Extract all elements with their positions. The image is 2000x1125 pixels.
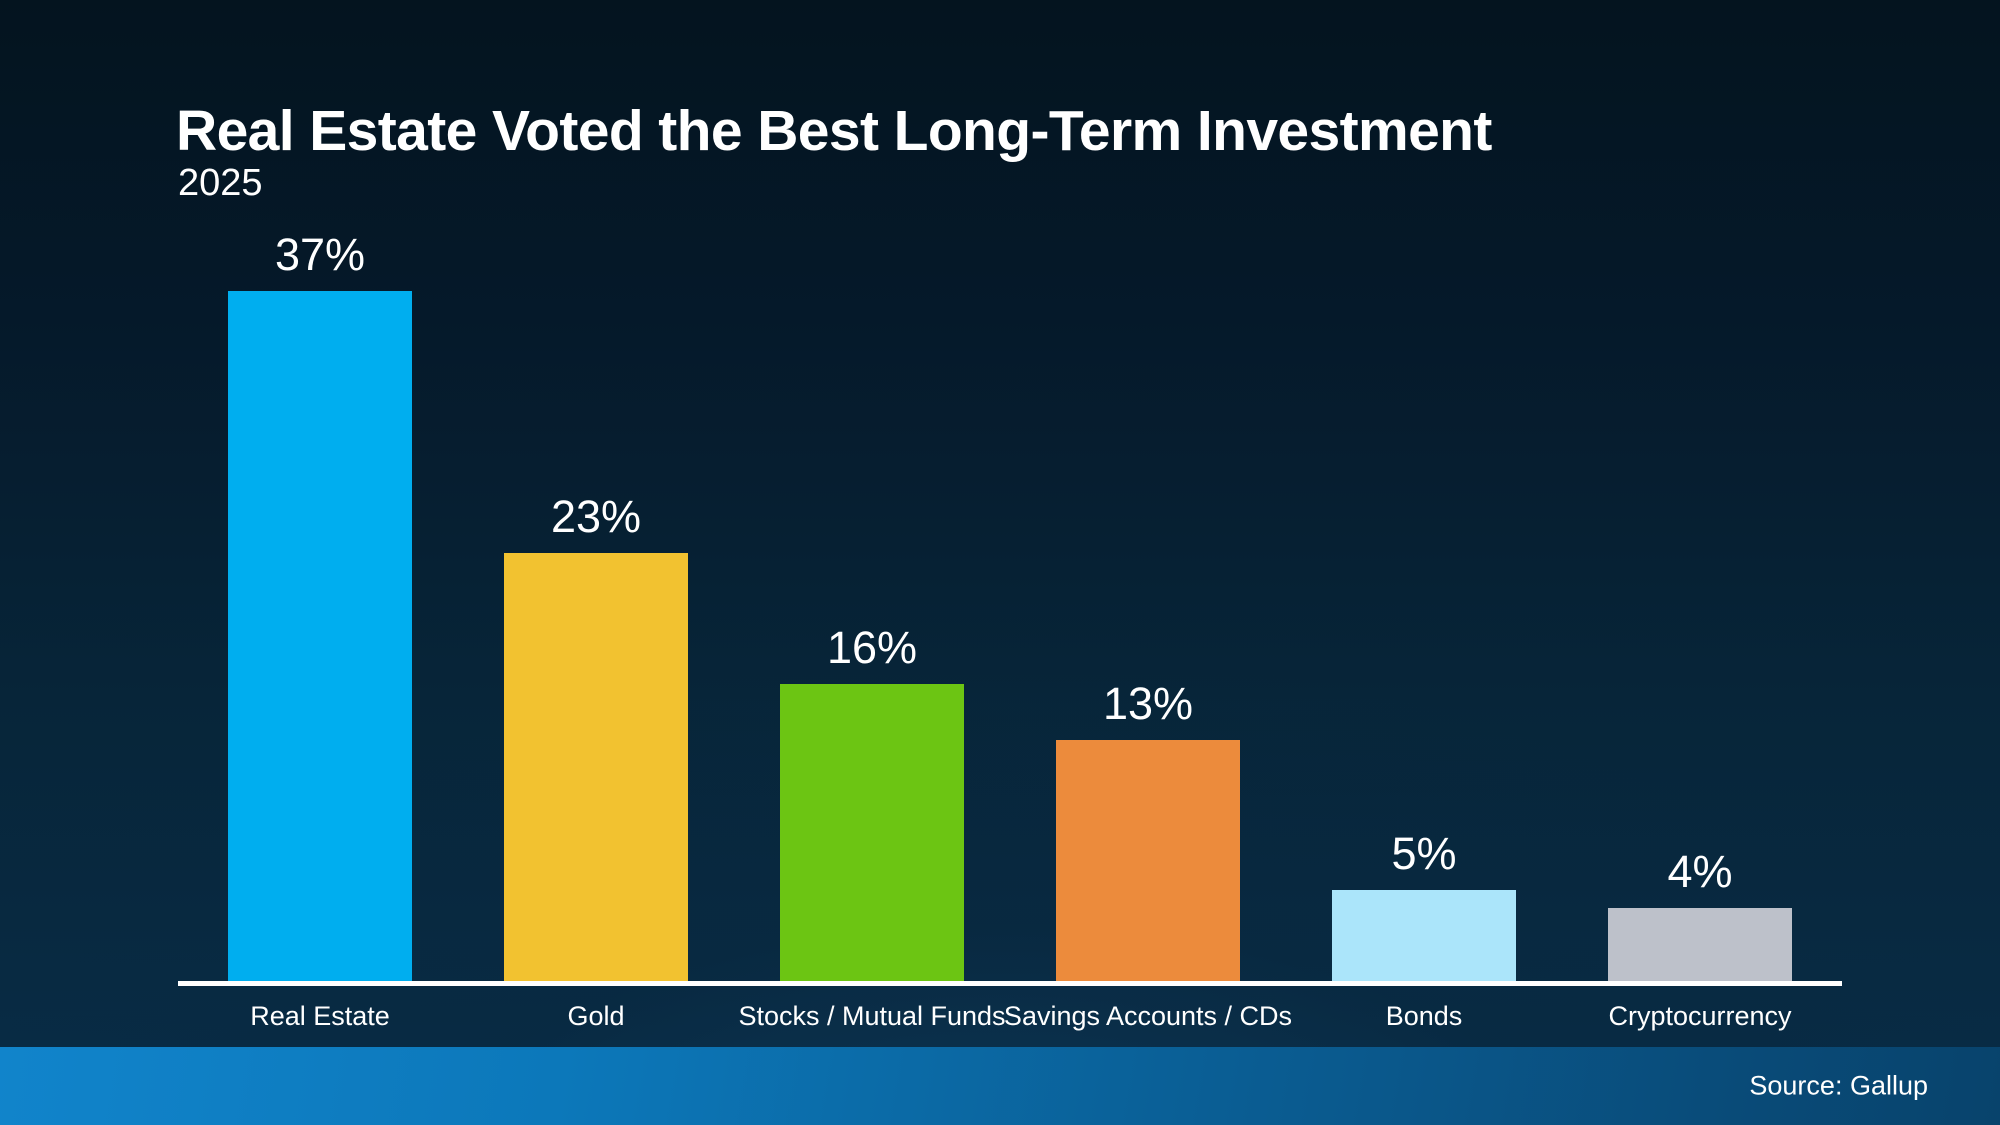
bar-chart-plot-area: 37%Real Estate23%Gold16%Stocks / Mutual …	[0, 0, 2000, 1125]
bar-category-label: Stocks / Mutual Funds	[738, 1003, 1005, 1030]
bar-category-label: Cryptocurrency	[1608, 1003, 1791, 1030]
bar-group[interactable]: 16%Stocks / Mutual Funds	[780, 684, 964, 983]
bar-group[interactable]: 4%Cryptocurrency	[1608, 908, 1792, 983]
x-axis-line	[178, 981, 1842, 986]
bar-value-label: 16%	[827, 625, 917, 670]
source-attribution: Source: Gallup	[1749, 1073, 1928, 1100]
bar-group[interactable]: 5%Bonds	[1332, 890, 1516, 984]
bar-category-label: Real Estate	[250, 1003, 390, 1030]
bar-category-label: Savings Accounts / CDs	[1004, 1003, 1292, 1030]
bar-value-label: 37%	[275, 232, 365, 277]
bar-value-label: 13%	[1103, 681, 1193, 726]
bar-real-estate[interactable]	[228, 291, 412, 983]
bar-value-label: 23%	[551, 494, 641, 539]
footer-bar: Source: Gallup	[0, 1047, 2000, 1125]
bar-value-label: 4%	[1667, 849, 1732, 894]
bar-category-label: Bonds	[1386, 1003, 1463, 1030]
bar-stocks-mutual-funds[interactable]	[780, 684, 964, 983]
bar-value-label: 5%	[1391, 831, 1456, 876]
bar-savings-accounts-cds[interactable]	[1056, 740, 1240, 983]
bar-cryptocurrency[interactable]	[1608, 908, 1792, 983]
bar-group[interactable]: 13%Savings Accounts / CDs	[1056, 740, 1240, 983]
chart-slide: Real Estate Voted the Best Long-Term Inv…	[0, 0, 2000, 1125]
bar-gold[interactable]	[504, 553, 688, 983]
bar-group[interactable]: 37%Real Estate	[228, 291, 412, 983]
bar-group[interactable]: 23%Gold	[504, 553, 688, 983]
bar-category-label: Gold	[567, 1003, 624, 1030]
bar-bonds[interactable]	[1332, 890, 1516, 984]
